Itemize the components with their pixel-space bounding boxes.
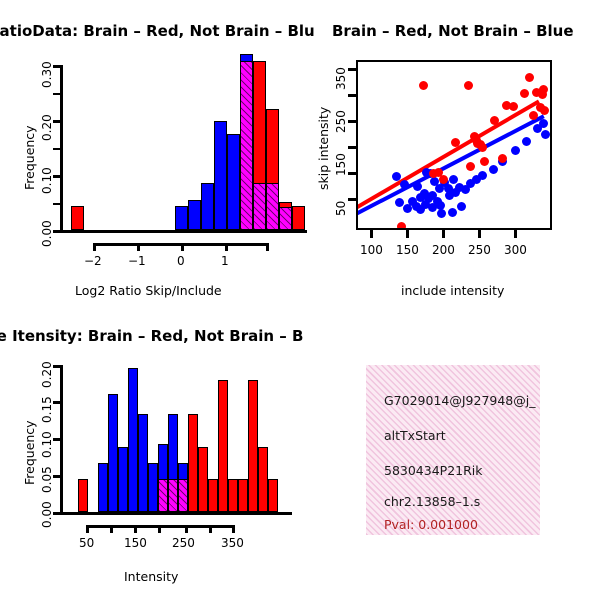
gene-xtick-mark — [110, 525, 113, 533]
ratio-ytick-mark — [53, 148, 60, 151]
scatter-point — [437, 209, 446, 218]
scatter-point — [429, 169, 438, 178]
gene-xtick-mark — [185, 525, 188, 533]
ratio-ytick-mark — [53, 120, 60, 123]
scatter-point — [449, 175, 458, 184]
gene-y-axis — [60, 365, 63, 512]
scatter-point — [403, 204, 412, 213]
bar-blue — [98, 463, 108, 512]
gene-ytick-mark — [53, 438, 60, 441]
scatter-point — [522, 137, 531, 146]
scatter-point — [525, 73, 534, 82]
gene-ytick-005: 0.05 — [40, 466, 54, 493]
scatter-point — [509, 102, 518, 111]
panel-gene-intensity-histogram: ne Itensity: Brain – Red, Not Brain – B … — [0, 310, 300, 600]
scatter-point — [539, 85, 548, 94]
panel-info: G7029014@J927948@j_ altTxStart 5830434P2… — [300, 310, 600, 600]
bar-red — [238, 479, 248, 512]
ratio-x-axis — [60, 230, 307, 233]
scatter-point — [400, 180, 409, 189]
ratio-histogram-title: RatioData: Brain – Red, Not Brain – Blu — [0, 22, 315, 40]
bar-blue — [128, 368, 138, 512]
scatter-point — [540, 106, 549, 115]
ratio-xtick-1: 1 — [221, 254, 229, 268]
ratio-histogram-ylabel: Frequency — [22, 125, 37, 190]
scatter-ytick-mark — [348, 68, 356, 71]
scatter-point — [520, 89, 529, 98]
panel-intensity-scatter: Brain – Red, Not Brain – Blue skip inten… — [300, 0, 600, 310]
scatter-point — [478, 171, 487, 180]
scatter-ytick-mark — [348, 120, 356, 123]
bar-blue — [175, 206, 188, 230]
scatter-xtick-250: 250 — [468, 243, 491, 257]
scatter-point — [490, 116, 499, 125]
bar-purple — [279, 206, 292, 230]
ratio-ytick-030: 0.30 — [40, 61, 54, 88]
scatter-xtick-mark — [442, 230, 445, 238]
scatter-xtick-mark — [514, 230, 517, 238]
info-line-event: altTxStart — [384, 428, 446, 443]
ratio-ytick-mark — [53, 203, 60, 206]
bar-blue — [118, 447, 128, 512]
scatter-point — [529, 111, 538, 120]
ratio-ytick-020: 0.20 — [40, 114, 54, 141]
scatter-xtick-300: 300 — [504, 243, 527, 257]
gene-xtick-mark — [86, 525, 89, 533]
scatter-point — [397, 222, 406, 231]
bar-red — [188, 414, 198, 512]
scatter-xtick-100: 100 — [360, 243, 383, 257]
bar-red — [78, 479, 88, 512]
bar-blue — [201, 183, 214, 230]
gene-xtick-mark — [232, 525, 235, 533]
gene-ytick-mark — [53, 401, 60, 404]
scatter-ylabel: skip intensity — [316, 107, 331, 190]
scatter-ytick-350: 350 — [334, 67, 348, 90]
bar-red — [198, 447, 208, 512]
ratio-ytick-mark — [53, 65, 60, 68]
scatter-ytick-150: 150 — [334, 153, 348, 176]
scatter-point — [416, 205, 425, 214]
scatter-ytick-50: 50 — [334, 201, 348, 216]
gene-xtick-350: 350 — [221, 536, 244, 550]
ratio-xtick-0: 0 — [177, 254, 185, 268]
scatter-ytick-250: 250 — [334, 110, 348, 133]
ratio-ytick-mark — [53, 175, 60, 178]
scatter-point — [439, 175, 448, 184]
scatter-point — [392, 172, 401, 181]
scatter-ytick-mark — [348, 94, 356, 97]
bar-purple — [240, 61, 253, 230]
scatter-xtick-150: 150 — [396, 243, 419, 257]
scatter-ytick-mark — [348, 172, 356, 175]
gene-x-axis — [60, 512, 292, 515]
gene-intensity-title: ne Itensity: Brain – Red, Not Brain – B — [0, 327, 303, 345]
bar-blue — [148, 463, 158, 512]
ratio-histogram-xlabel: Log2 Ratio Skip/Include — [75, 283, 222, 298]
bar-red — [228, 479, 238, 512]
scatter-point — [448, 208, 457, 217]
gene-xtick-mark — [158, 525, 161, 533]
scatter-xlabel: include intensity — [401, 283, 504, 298]
ratio-y-axis — [60, 65, 63, 230]
bar-red — [279, 202, 292, 208]
gene-ytick-020: 0.20 — [40, 361, 54, 388]
scatter-xtick-mark — [406, 230, 409, 238]
gene-xtick-mark — [134, 525, 137, 533]
bar-purple — [158, 479, 168, 512]
info-line-locus: chr2.13858–1.s — [384, 494, 480, 509]
bar-red — [268, 479, 278, 512]
scatter-point — [466, 162, 475, 171]
ratio-xtick-mark — [93, 243, 96, 251]
scatter-point — [511, 146, 520, 155]
scatter-xtick-mark — [478, 230, 481, 238]
gene-intensity-ylabel: Frequency — [22, 420, 37, 485]
scatter-plot-area — [356, 60, 552, 230]
bar-red — [208, 479, 218, 512]
bar-purple — [178, 479, 188, 512]
scatter-ytick-mark — [348, 198, 356, 201]
scatter-point — [451, 138, 460, 147]
ratio-ytick-000: 0.00 — [40, 220, 54, 247]
ratio-ytick-010: 0.10 — [40, 167, 54, 194]
gene-ytick-015: 0.15 — [40, 396, 54, 423]
scatter-point — [464, 81, 473, 90]
bar-blue — [108, 394, 118, 512]
scatter-point — [480, 157, 489, 166]
scatter-point — [539, 119, 548, 128]
scatter-title: Brain – Red, Not Brain – Blue — [332, 22, 574, 40]
gene-xtick-50: 50 — [79, 536, 94, 550]
fit-line-not-brain — [356, 114, 545, 216]
gene-intensity-xlabel: Intensity — [124, 569, 178, 584]
scatter-point — [419, 81, 428, 90]
panel-ratio-histogram: RatioData: Brain – Red, Not Brain – Blu … — [0, 0, 300, 310]
scatter-point — [541, 130, 550, 139]
annotation-box: G7029014@J927948@j_ altTxStart 5830434P2… — [366, 365, 540, 535]
gene-xtick-150: 150 — [124, 536, 147, 550]
bar-purple — [266, 183, 279, 230]
ratio-xtick-mark — [137, 243, 140, 251]
bar-purple — [168, 479, 178, 512]
bar-red — [218, 380, 228, 512]
gene-ytick-mark — [53, 512, 60, 515]
scatter-ytick-mark — [348, 146, 356, 149]
bar-blue — [138, 414, 148, 512]
scatter-xtick-mark — [370, 230, 373, 238]
ratio-xtick-neg2: −2 — [84, 254, 102, 268]
info-line-gene: 5830434P21Rik — [384, 463, 483, 478]
scatter-point — [476, 140, 485, 149]
bar-red — [248, 380, 258, 512]
info-line-gene-id: G7029014@J927948@j_ — [384, 393, 535, 408]
scatter-point — [457, 202, 466, 211]
ratio-xtick-neg1: −1 — [128, 254, 146, 268]
bar-red — [71, 206, 84, 230]
ratio-xtick-mark — [225, 243, 228, 251]
bar-blue — [214, 121, 227, 230]
scatter-point — [489, 165, 498, 174]
bar-blue — [188, 200, 201, 230]
scatter-point — [413, 182, 422, 191]
scatter-xtick-200: 200 — [432, 243, 455, 257]
gene-xtick-250: 250 — [172, 536, 195, 550]
scatter-point — [498, 154, 507, 163]
scatter-point — [395, 198, 404, 207]
gene-ytick-mark — [53, 365, 60, 368]
bar-red — [258, 447, 268, 512]
gene-xtick-mark — [209, 525, 212, 533]
bar-purple — [253, 183, 266, 230]
gene-ytick-mark — [53, 475, 60, 478]
ratio-xtick-mark — [181, 243, 184, 251]
ratio-ytick-mark — [53, 93, 60, 96]
gene-ytick-000: 0.00 — [40, 501, 54, 528]
bar-blue — [227, 134, 240, 230]
gene-ytick-010: 0.10 — [40, 431, 54, 458]
info-line-pval: Pval: 0.001000 — [384, 517, 478, 532]
ratio-xtick-mark — [266, 243, 269, 251]
ratio-ytick-mark — [53, 230, 60, 233]
